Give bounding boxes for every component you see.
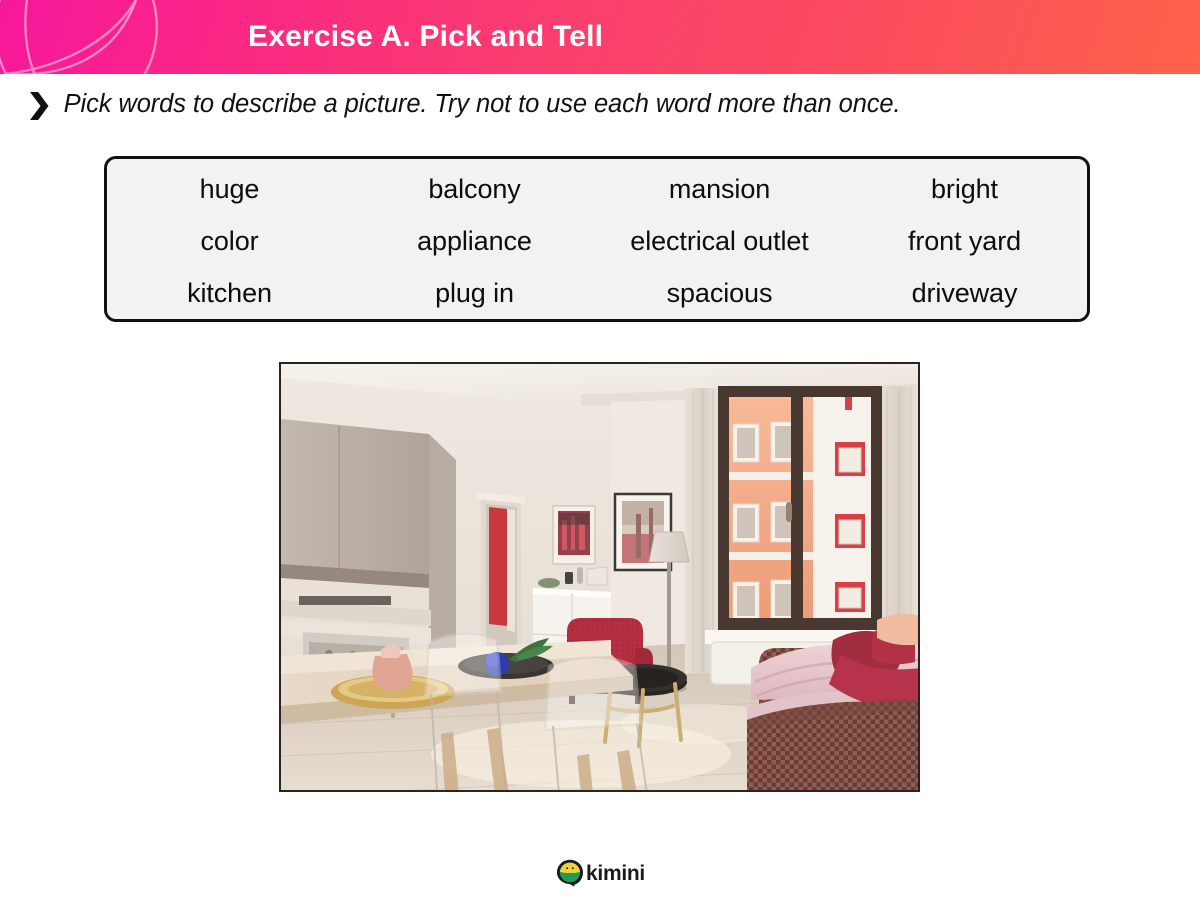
word-bank-row: color appliance electrical outlet front … (107, 215, 1087, 267)
word-chip[interactable]: electrical outlet (597, 226, 842, 257)
word-chip[interactable]: driveway (842, 278, 1087, 309)
word-chip[interactable]: spacious (597, 278, 842, 309)
word-chip[interactable]: front yard (842, 226, 1087, 257)
word-chip[interactable]: color (107, 226, 352, 257)
word-bank-row: kitchen plug in spacious driveway (107, 267, 1087, 319)
word-chip[interactable]: plug in (352, 278, 597, 309)
word-chip[interactable]: kitchen (107, 278, 352, 309)
footer-brand-name: kimini (586, 863, 645, 884)
page-title: Exercise A. Pick and Tell (248, 0, 603, 74)
header-decoration-icon (0, 0, 220, 74)
word-chip[interactable]: balcony (352, 174, 597, 205)
word-chip[interactable]: huge (107, 174, 352, 205)
exercise-photo (279, 362, 920, 792)
word-bank-row: huge balcony mansion bright (107, 163, 1087, 215)
instruction-row: ❯ Pick words to describe a picture. Try … (28, 84, 901, 124)
apartment-interior-illustration (281, 364, 918, 790)
word-chip[interactable]: mansion (597, 174, 842, 205)
header-banner: Exercise A. Pick and Tell (0, 0, 1200, 74)
word-chip[interactable]: bright (842, 174, 1087, 205)
chevron-right-icon: ❯ (26, 91, 52, 118)
word-chip[interactable]: appliance (352, 226, 597, 257)
kimini-acorn-icon (555, 858, 585, 888)
word-bank-box: huge balcony mansion bright color applia… (104, 156, 1090, 322)
footer-logo: kimini (0, 858, 1200, 888)
instruction-text: Pick words to describe a picture. Try no… (64, 90, 901, 119)
